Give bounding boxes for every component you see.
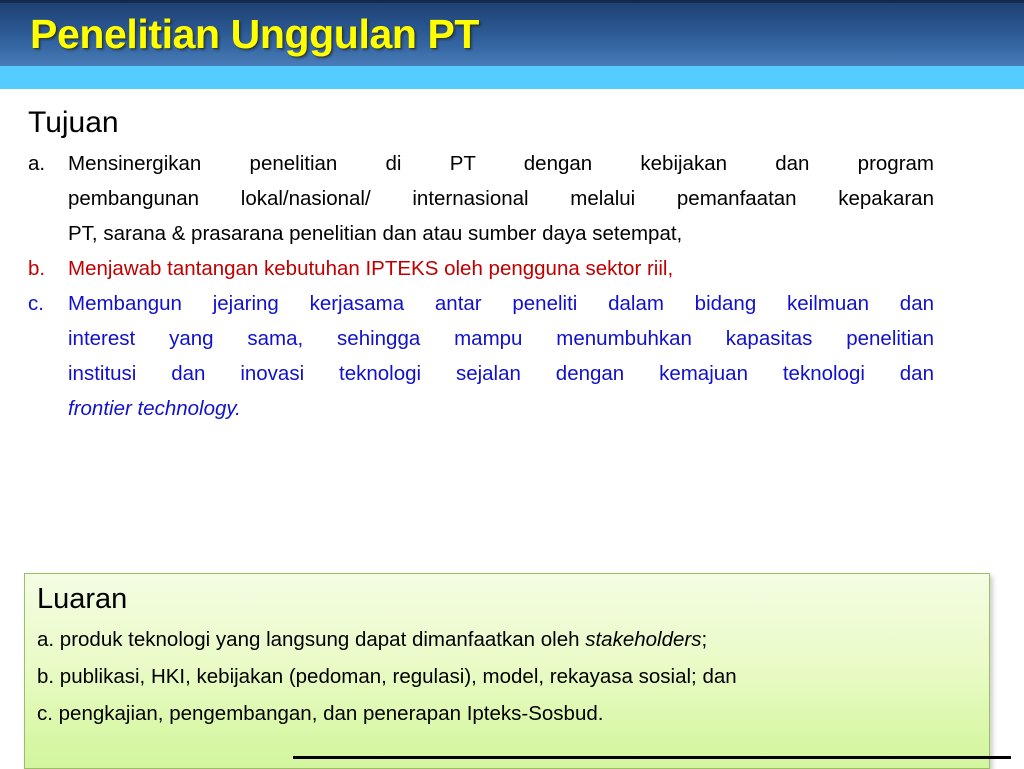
list-item: b. Menjawab tantangan kebutuhan IPTEKS o… — [28, 251, 934, 286]
page-title: Penelitian Unggulan PT — [30, 6, 479, 62]
list-item-line: pembangunan lokal/nasional/ internasiona… — [68, 181, 934, 216]
list-item-line: PT, sarana & prasarana penelitian dan at… — [68, 216, 934, 251]
luaran-heading: Luaran — [37, 582, 127, 616]
list-item: a. Mensinergikan penelitian di PT dengan… — [28, 146, 934, 251]
list-item-line: interest yang sama, sehingga mampu menum… — [68, 321, 934, 356]
luaran-callout-box: Luaran a. produk teknologi yang langsung… — [24, 573, 990, 769]
list-item-emphasis: stakeholders — [585, 628, 701, 651]
list-item-line: institusi dan inovasi teknologi sejalan … — [68, 356, 934, 391]
header-banner: Penelitian Unggulan PT — [0, 0, 1024, 66]
luaran-list: a. produk teknologi yang langsung dapat … — [37, 621, 975, 732]
list-item-text: Mensinergikan penelitian di PT dengan ke… — [68, 146, 934, 251]
list-item-text: c. pengkajian, pengembangan, dan penerap… — [37, 702, 603, 725]
tujuan-heading: Tujuan — [28, 106, 119, 140]
list-item-line: Membangun jejaring kerjasama antar penel… — [68, 286, 934, 321]
footer-divider-line — [293, 756, 1011, 759]
list-item: c. Membangun jejaring kerjasama antar pe… — [28, 286, 934, 426]
list-item-text: a. produk teknologi yang langsung dapat … — [37, 628, 585, 651]
list-item-suffix: ; — [701, 628, 707, 651]
list-item: b. publikasi, HKI, kebijakan (pedoman, r… — [37, 658, 975, 695]
tujuan-list: a. Mensinergikan penelitian di PT dengan… — [28, 146, 934, 426]
list-item-text: b. publikasi, HKI, kebijakan (pedoman, r… — [37, 665, 737, 688]
list-item: a. produk teknologi yang langsung dapat … — [37, 621, 975, 658]
list-item-line: Menjawab tantangan kebutuhan IPTEKS oleh… — [68, 251, 934, 286]
list-item-text: Membangun jejaring kerjasama antar penel… — [68, 286, 934, 426]
list-item-marker: b. — [28, 251, 68, 286]
list-item-text: Menjawab tantangan kebutuhan IPTEKS oleh… — [68, 251, 934, 286]
list-item: c. pengkajian, pengembangan, dan penerap… — [37, 695, 975, 732]
list-item-marker: c. — [28, 286, 68, 321]
list-item-italic-tail: frontier technology. — [68, 391, 934, 426]
list-item-line: Mensinergikan penelitian di PT dengan ke… — [68, 146, 934, 181]
header-accent-bar — [0, 66, 1024, 89]
list-item-marker: a. — [28, 146, 68, 181]
